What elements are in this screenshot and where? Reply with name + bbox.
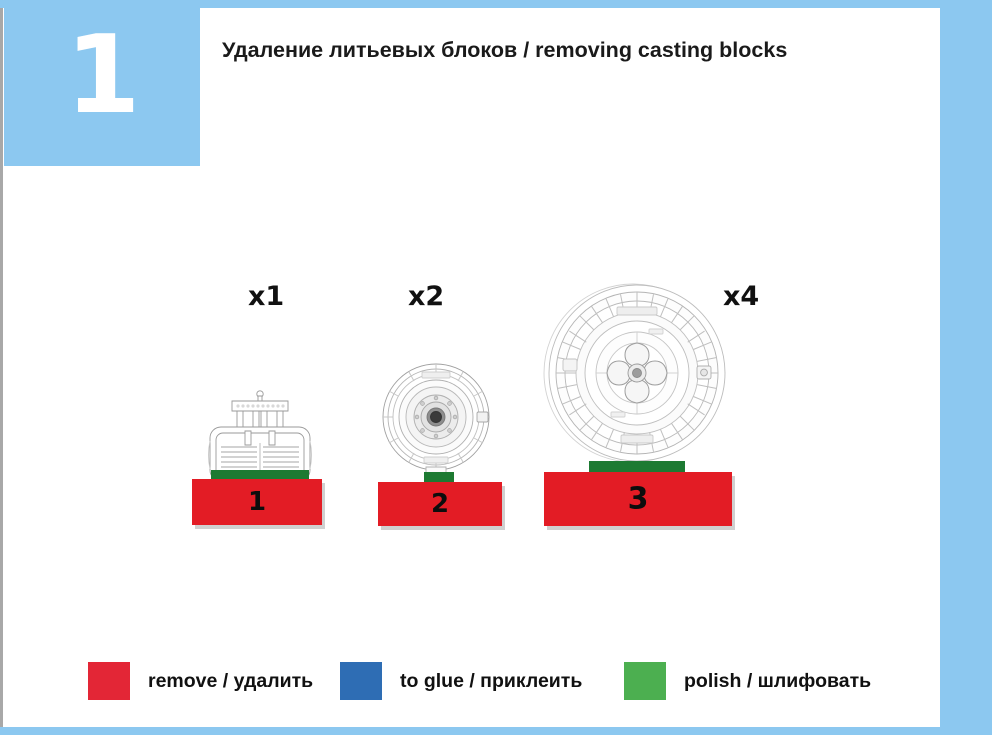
part-2-polish-strip xyxy=(424,472,454,482)
part-3-block-label: 3 xyxy=(544,482,732,517)
part-2-block-label: 2 xyxy=(378,489,502,519)
legend-swatch-to-glue xyxy=(340,662,382,700)
legend-item-polish: polish / шлифовать xyxy=(624,659,871,703)
legend-swatch-remove xyxy=(88,662,130,700)
part-2-quantity: x2 xyxy=(408,281,444,312)
parts-area: x1 xyxy=(0,0,992,735)
legend-item-to-glue: to glue / приклеить xyxy=(340,659,582,703)
part-1-block-label: 1 xyxy=(192,487,322,517)
legend-item-remove: remove / удалить xyxy=(88,659,313,703)
legend-label-to-glue: to glue / приклеить xyxy=(400,670,582,693)
part-3-polish-strip xyxy=(589,461,685,472)
instruction-sheet: 1 Удаление литьевых блоков / removing ca… xyxy=(0,0,992,735)
part-3-casting-block: 3 xyxy=(544,472,732,526)
legend-label-remove: remove / удалить xyxy=(148,670,313,693)
part-1-drawing xyxy=(185,383,335,483)
legend-swatch-polish xyxy=(624,662,666,700)
part-1-casting-block: 1 xyxy=(192,479,322,525)
part-1-quantity: x1 xyxy=(248,281,284,312)
part-2-casting-block: 2 xyxy=(378,482,502,526)
legend-label-polish: polish / шлифовать xyxy=(684,670,871,693)
part-1-polish-strip xyxy=(211,470,309,479)
part-3-drawing xyxy=(541,281,731,471)
part-2-drawing xyxy=(378,363,498,475)
legend: remove / удалить to glue / приклеить pol… xyxy=(88,659,888,703)
